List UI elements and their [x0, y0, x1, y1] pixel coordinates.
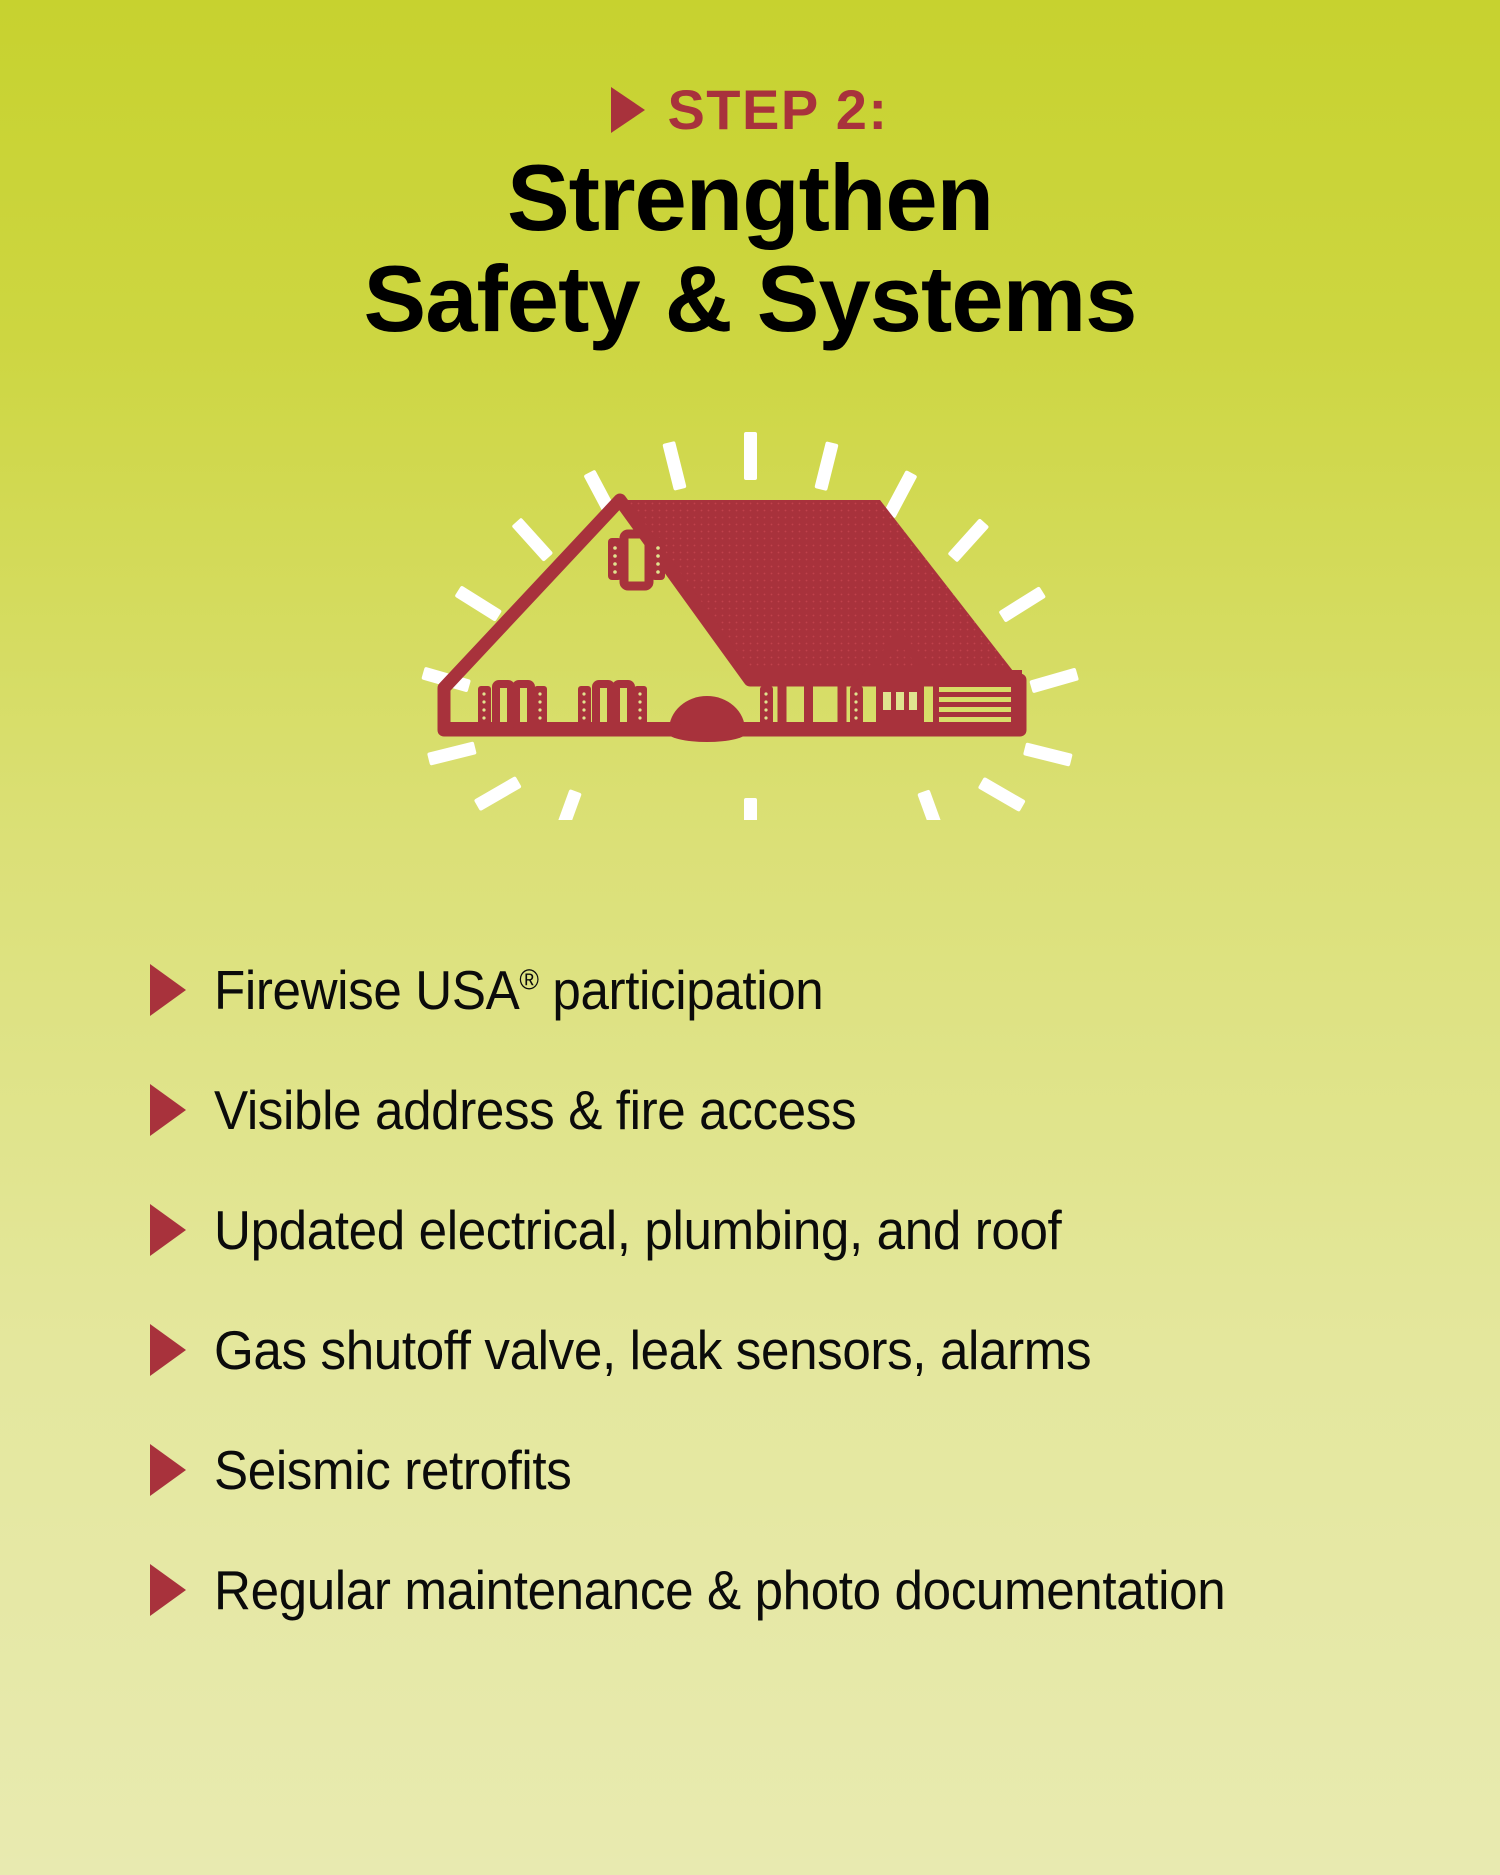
- attic-window-with-shutters: [608, 534, 665, 586]
- list-item: Regular maintenance & photo documentatio…: [150, 1530, 1450, 1650]
- list-item: Visible address & fire access: [150, 1050, 1450, 1170]
- page-title-line-2: Safety & Systems: [0, 249, 1500, 350]
- triangle-right-icon: [150, 1564, 186, 1616]
- list-item-label: Regular maintenance & photo documentatio…: [214, 1560, 1225, 1621]
- triangle-right-icon: [150, 1084, 186, 1136]
- registered-mark: ®: [519, 964, 538, 996]
- list-item-label: Updated electrical, plumbing, and roof: [214, 1200, 1061, 1261]
- list-item: Gas shutoff valve, leak sensors, alarms: [150, 1290, 1450, 1410]
- triangle-right-icon: [611, 87, 645, 133]
- list-item: Firewise USA® participation: [150, 930, 1450, 1050]
- list-item: Updated electrical, plumbing, and roof: [150, 1170, 1450, 1290]
- step-eyebrow: STEP 2:: [0, 82, 1500, 138]
- step-label: STEP 2:: [667, 82, 888, 138]
- triangle-right-icon: [150, 1324, 186, 1376]
- page-title-line-1: Strengthen: [0, 148, 1500, 249]
- list-item-label: Visible address & fire access: [214, 1080, 856, 1141]
- shuttered-window-right: [578, 684, 647, 726]
- list-item-label: Gas shutoff valve, leak sensors, alarms: [214, 1320, 1091, 1381]
- checklist: Firewise USA® participation Visible addr…: [150, 930, 1450, 1650]
- triangle-right-icon: [150, 964, 186, 1016]
- shuttered-window-left: [478, 684, 547, 726]
- picture-window: [760, 680, 863, 728]
- page-title: Strengthen Safety & Systems: [0, 148, 1500, 349]
- list-item-label: Firewise USA® participation: [214, 960, 823, 1021]
- garage-door: [936, 684, 1014, 730]
- front-door: [876, 684, 924, 730]
- list-item-label: Seismic retrofits: [214, 1440, 571, 1501]
- house-with-rays-illustration: [0, 430, 1500, 820]
- triangle-right-icon: [150, 1444, 186, 1496]
- triangle-right-icon: [150, 1204, 186, 1256]
- list-item: Seismic retrofits: [150, 1410, 1450, 1530]
